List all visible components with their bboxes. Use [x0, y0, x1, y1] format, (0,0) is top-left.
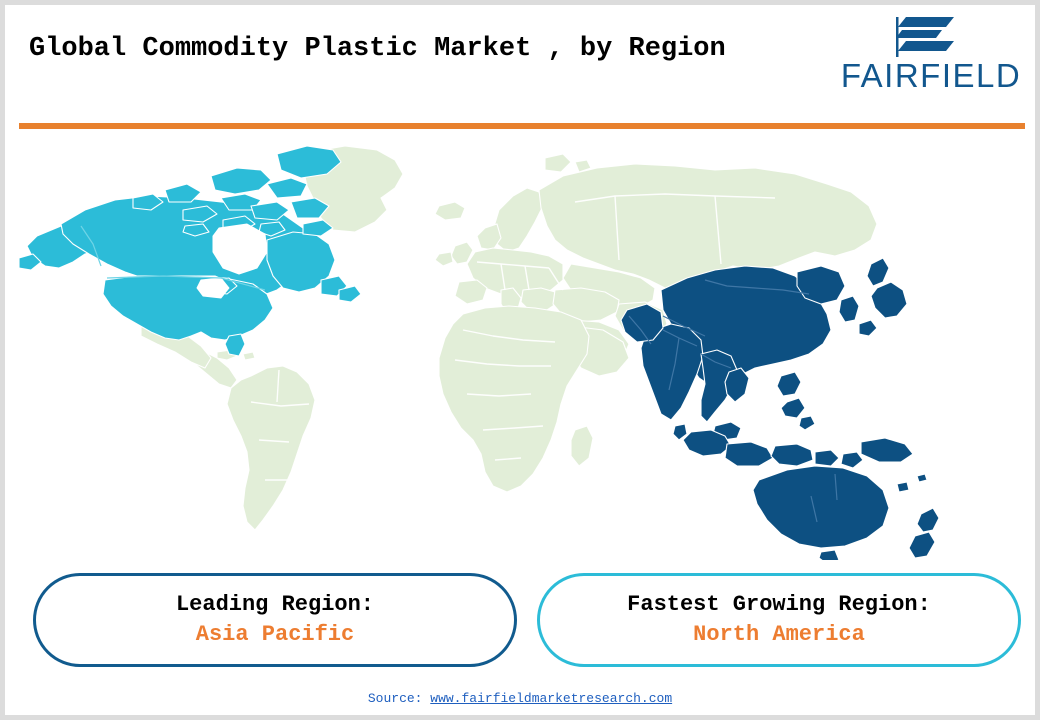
leading-region-pill[interactable]: Leading Region: Asia Pacific [33, 573, 517, 667]
fairfield-flag-icon [892, 13, 964, 57]
header-accent-rule [19, 123, 1025, 129]
infographic-page: Global Commodity Plastic Market , by Reg… [0, 0, 1040, 720]
region-callouts: Leading Region: Asia Pacific Fastest Gro… [5, 565, 1035, 675]
source-line: Source: www.fairfieldmarketresearch.com [5, 691, 1035, 706]
leading-region-value: Asia Pacific [196, 620, 354, 650]
page-header: Global Commodity Plastic Market , by Reg… [5, 5, 1035, 123]
world-map-icon [15, 140, 1030, 560]
fastest-growing-region-label: Fastest Growing Region: [627, 590, 931, 620]
leading-region-label: Leading Region: [176, 590, 374, 620]
source-label: Source: [368, 691, 423, 706]
fairfield-logo: FAIRFIELD [836, 13, 1026, 109]
fastest-growing-region-value: North America [693, 620, 865, 650]
world-map [15, 140, 1030, 560]
fastest-growing-region-pill[interactable]: Fastest Growing Region: North America [537, 573, 1021, 667]
source-url-link[interactable]: www.fairfieldmarketresearch.com [430, 691, 672, 706]
fairfield-wordmark: FAIRFIELD [836, 57, 1026, 95]
page-title: Global Commodity Plastic Market , by Reg… [29, 31, 769, 68]
region-asia-pacific [621, 258, 939, 560]
